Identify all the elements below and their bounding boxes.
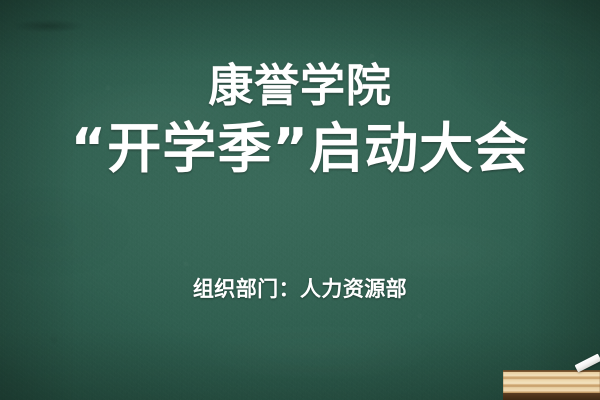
- slide-title-line-1: 康誉学院: [0, 60, 600, 112]
- chalk-tray: [503, 370, 600, 400]
- presentation-slide: 康誉学院 “开学季”启动大会 组织部门：人力资源部: [0, 0, 600, 400]
- chalk-tray-edge: [503, 393, 600, 400]
- chalk-tray-surface: [503, 370, 600, 394]
- slide-content: 康誉学院 “开学季”启动大会 组织部门：人力资源部: [0, 0, 600, 400]
- slide-title-block: 康誉学院 “开学季”启动大会: [0, 60, 600, 180]
- slide-title-line-2: “开学季”启动大会: [0, 118, 600, 180]
- slide-subtitle: 组织部门：人力资源部: [0, 273, 600, 303]
